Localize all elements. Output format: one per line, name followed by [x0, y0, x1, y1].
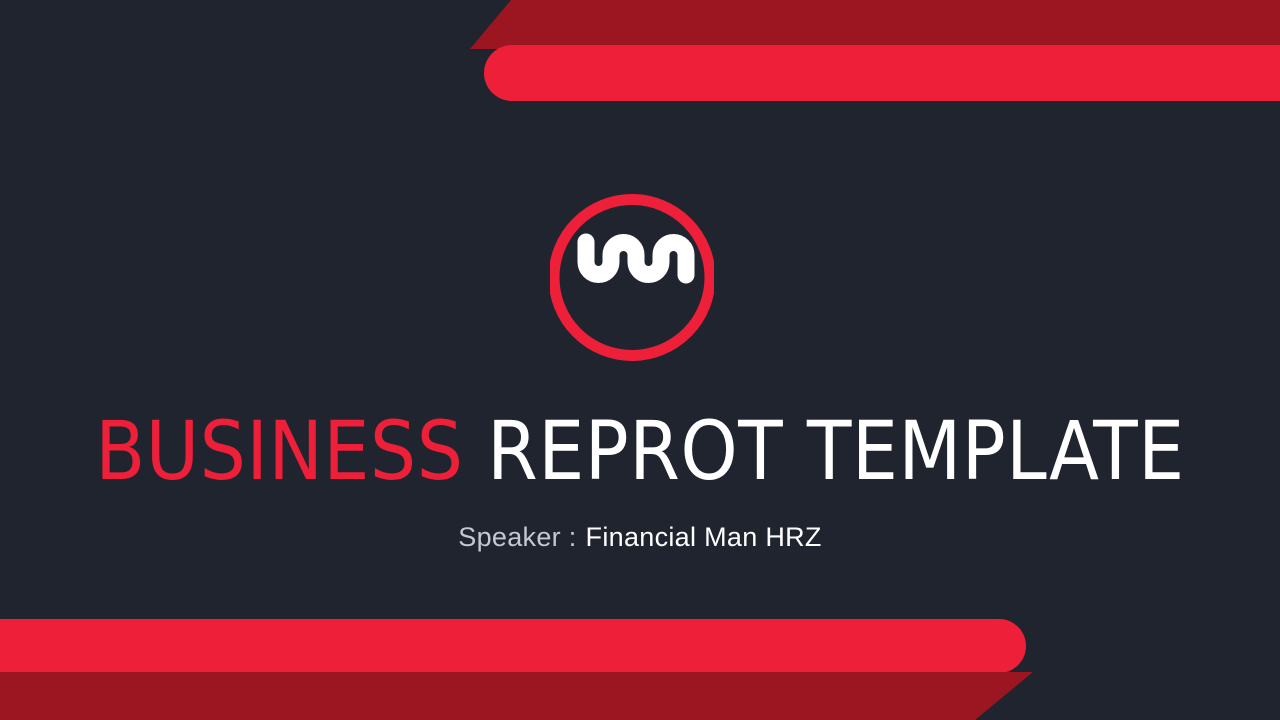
speaker-label: Speaker : [458, 522, 576, 552]
logo [550, 192, 714, 363]
bottom-bright-red-pill-bar [0, 619, 1026, 673]
title-accent-word: BUSINESS [95, 405, 463, 499]
speaker-name: Financial Man HRZ [586, 522, 822, 552]
title-slide: BUSINESS REPROT TEMPLATE Speaker :Financ… [0, 0, 1280, 720]
top-bright-red-pill-bar [484, 45, 1280, 101]
bottom-dark-red-angled-band [0, 672, 1033, 720]
logo-wave-mark [586, 242, 686, 275]
title-main-words: REPROT TEMPLATE [487, 405, 1185, 499]
speaker-line: Speaker :Financial Man HRZ [0, 518, 1280, 556]
top-dark-red-angled-band [470, 0, 1280, 49]
page-title: BUSINESS REPROT TEMPLATE [0, 404, 1280, 500]
